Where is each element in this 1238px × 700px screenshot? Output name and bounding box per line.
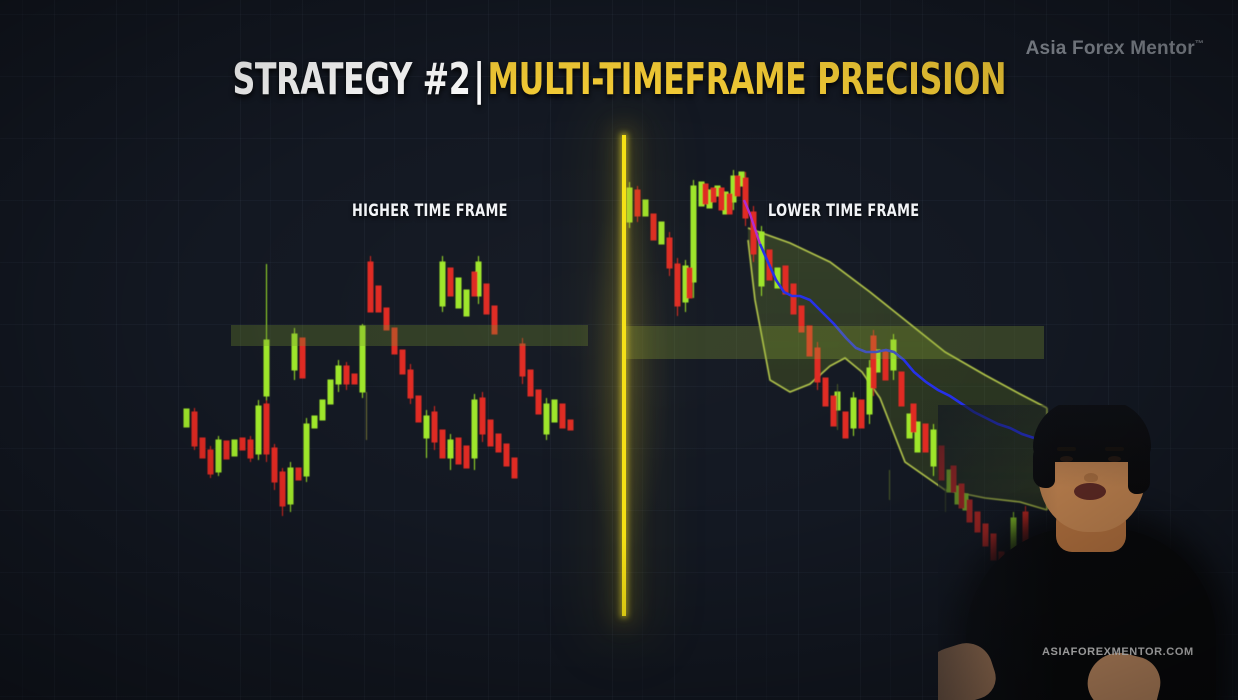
brand-logo: Asia Forex Mentor™: [1026, 38, 1204, 60]
higher-time-frame-label: HIGHER TIME FRAME: [352, 201, 508, 221]
video-frame: HIGHER TIME FRAME LOWER TIME FRAME STRAT…: [0, 0, 1238, 700]
htf-candles: [184, 256, 573, 516]
title-separator: |: [470, 54, 487, 105]
page-title: STRATEGY #2|MULTI-TIMEFRAME PRECISION: [232, 58, 1006, 102]
envelope-fill-area: [748, 228, 1047, 510]
chart-canvas: [0, 0, 1238, 700]
lower-time-frame-label: LOWER TIME FRAME: [768, 201, 919, 221]
brand-logo-text: Asia Forex Mentor: [1026, 38, 1195, 59]
htf-supply-zone: [231, 325, 588, 346]
ltf-supply-zone: [625, 326, 1044, 359]
ltf-envelope: [748, 228, 1047, 510]
timeframe-divider-line: [622, 135, 626, 616]
title-strategy-part: STRATEGY #2: [232, 54, 470, 105]
trademark-icon: ™: [1195, 39, 1204, 49]
title-bar: STRATEGY #2|MULTI-TIMEFRAME PRECISION: [0, 58, 1238, 102]
title-headline-part: MULTI-TIMEFRAME PRECISION: [487, 54, 1006, 105]
